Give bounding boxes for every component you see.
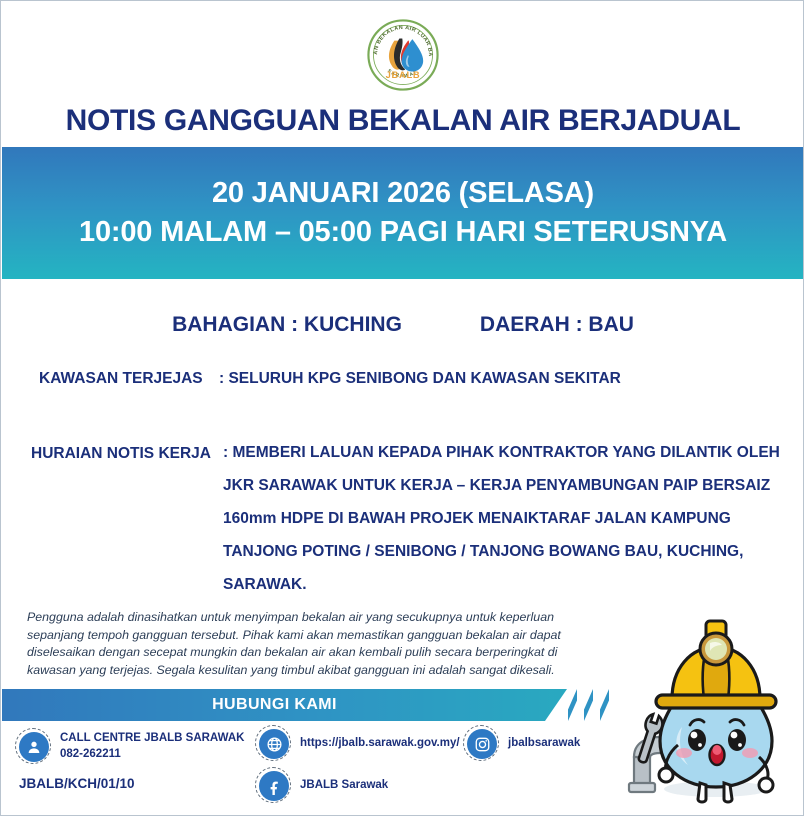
- svg-text:JBALB: JBALB: [386, 70, 421, 80]
- work-description-line: JKR SARAWAK UNTUK KERJA – KERJA PENYAMBU…: [223, 477, 781, 495]
- reference-number: JBALB/KCH/01/10: [19, 776, 135, 791]
- call-centre-phone: 082-262211: [60, 747, 244, 763]
- water-droplet-mascot: [620, 607, 795, 807]
- contact-bar: HUBUNGI KAMI: [2, 689, 614, 721]
- work-description-line: SARAWAK.: [223, 576, 781, 594]
- notice-poster: JABATAN BEKALAN AIR LUAR BANDAR SARAWAK …: [0, 0, 804, 816]
- work-description-value: : MEMBERI LALUAN KEPADA PIHAK KONTRAKTOR…: [223, 444, 781, 609]
- region-row: BAHAGIAN : KUCHING DAERAH : BAU: [1, 313, 804, 337]
- bahagian-text: BAHAGIAN : KUCHING: [172, 313, 402, 337]
- globe-icon: [259, 729, 289, 759]
- website-url: https://jbalb.sarawak.gov.my/: [300, 736, 460, 752]
- bar-stripe-1: [568, 689, 577, 721]
- instagram-icon: [467, 729, 497, 759]
- instagram-handle: jbalbsarawak: [508, 736, 580, 752]
- call-centre-name: CALL CENTRE JBALB SARAWAK: [60, 731, 244, 747]
- logo-container: JABATAN BEKALAN AIR LUAR BANDAR SARAWAK …: [1, 19, 804, 91]
- work-description-label: HURAIAN NOTIS KERJA: [31, 444, 223, 463]
- page-title: NOTIS GANGGUAN BEKALAN AIR BERJADUAL: [1, 104, 804, 138]
- contact-website[interactable]: https://jbalb.sarawak.gov.my/: [259, 729, 460, 759]
- jbalb-logo: JABATAN BEKALAN AIR LUAR BANDAR SARAWAK …: [367, 19, 439, 91]
- affected-area-value: : SELURUH KPG SENIBONG DAN KAWASAN SEKIT…: [219, 370, 759, 388]
- person-icon: [19, 732, 49, 762]
- call-centre-text: CALL CENTRE JBALB SARAWAK 082-262211: [60, 731, 244, 762]
- contact-facebook[interactable]: JBALB Sarawak: [259, 771, 388, 801]
- region-spacer: [402, 313, 480, 337]
- affected-area-row: KAWASAN TERJEJAS : SELURUH KPG SENIBONG …: [39, 370, 759, 388]
- date-time-banner: 20 JANUARI 2026 (SELASA) 10:00 MALAM – 0…: [2, 147, 804, 279]
- affected-area-label: KAWASAN TERJEJAS: [39, 370, 219, 388]
- work-description-line: TANJONG POTING / SENIBONG / TANJONG BOWA…: [223, 543, 781, 561]
- bar-stripe-3: [600, 689, 609, 721]
- advisory-note: Pengguna adalah dinasihatkan untuk menyi…: [27, 609, 597, 679]
- contact-call-centre[interactable]: CALL CENTRE JBALB SARAWAK 082-262211: [19, 731, 244, 762]
- work-description-line: : MEMBERI LALUAN KEPADA PIHAK KONTRAKTOR…: [223, 444, 781, 462]
- work-description-line: 160mm HDPE DI BAWAH PROJEK MENAIKTARAF J…: [223, 510, 781, 528]
- work-description-row: HURAIAN NOTIS KERJA : MEMBERI LALUAN KEP…: [31, 444, 781, 609]
- banner-date: 20 JANUARI 2026 (SELASA): [212, 177, 594, 210]
- bar-stripe-2: [584, 689, 593, 721]
- banner-time: 10:00 MALAM – 05:00 PAGI HARI SETERUSNYA: [79, 216, 727, 249]
- contact-bar-label: HUBUNGI KAMI: [2, 689, 547, 721]
- facebook-icon: [259, 771, 289, 801]
- facebook-handle: JBALB Sarawak: [300, 778, 388, 794]
- hard-hat: [656, 621, 776, 708]
- contact-instagram[interactable]: jbalbsarawak: [467, 729, 580, 759]
- daerah-text: DAERAH : BAU: [480, 313, 634, 337]
